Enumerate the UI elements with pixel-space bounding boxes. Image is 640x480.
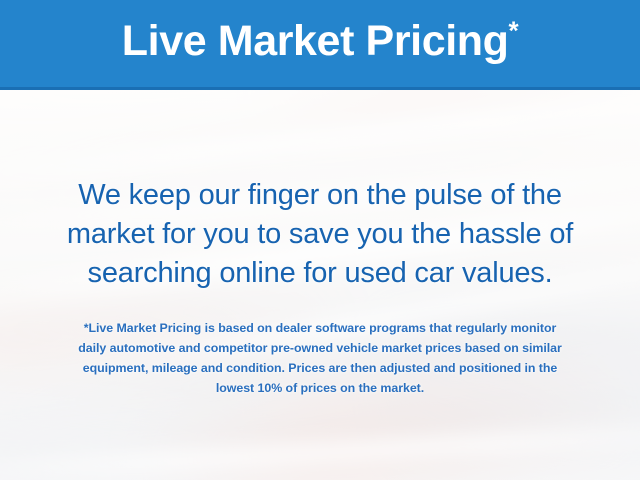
banner-title-text: Live Market Pricing	[122, 17, 509, 65]
disclaimer-line-4: lowest 10% of prices on the market.	[0, 378, 640, 398]
disclaimer-line-2: daily automotive and competitor pre-owne…	[0, 338, 640, 358]
headline-line-1: We keep our finger on the pulse of the	[0, 176, 640, 215]
header-banner: Live Market Pricing*	[0, 0, 640, 90]
promo-slide: Live Market Pricing* We keep our finger …	[0, 0, 640, 480]
disclaimer: *Live Market Pricing is based on dealer …	[0, 318, 640, 398]
headline: We keep our finger on the pulse of the m…	[0, 176, 640, 293]
banner-title-asterisk: *	[509, 16, 519, 46]
headline-line-2: market for you to save you the hassle of	[0, 215, 640, 254]
headline-line-3: searching online for used car values.	[0, 254, 640, 293]
disclaimer-line-1: *Live Market Pricing is based on dealer …	[0, 318, 640, 338]
disclaimer-line-3: equipment, mileage and condition. Prices…	[0, 358, 640, 378]
banner-title: Live Market Pricing*	[122, 20, 518, 63]
